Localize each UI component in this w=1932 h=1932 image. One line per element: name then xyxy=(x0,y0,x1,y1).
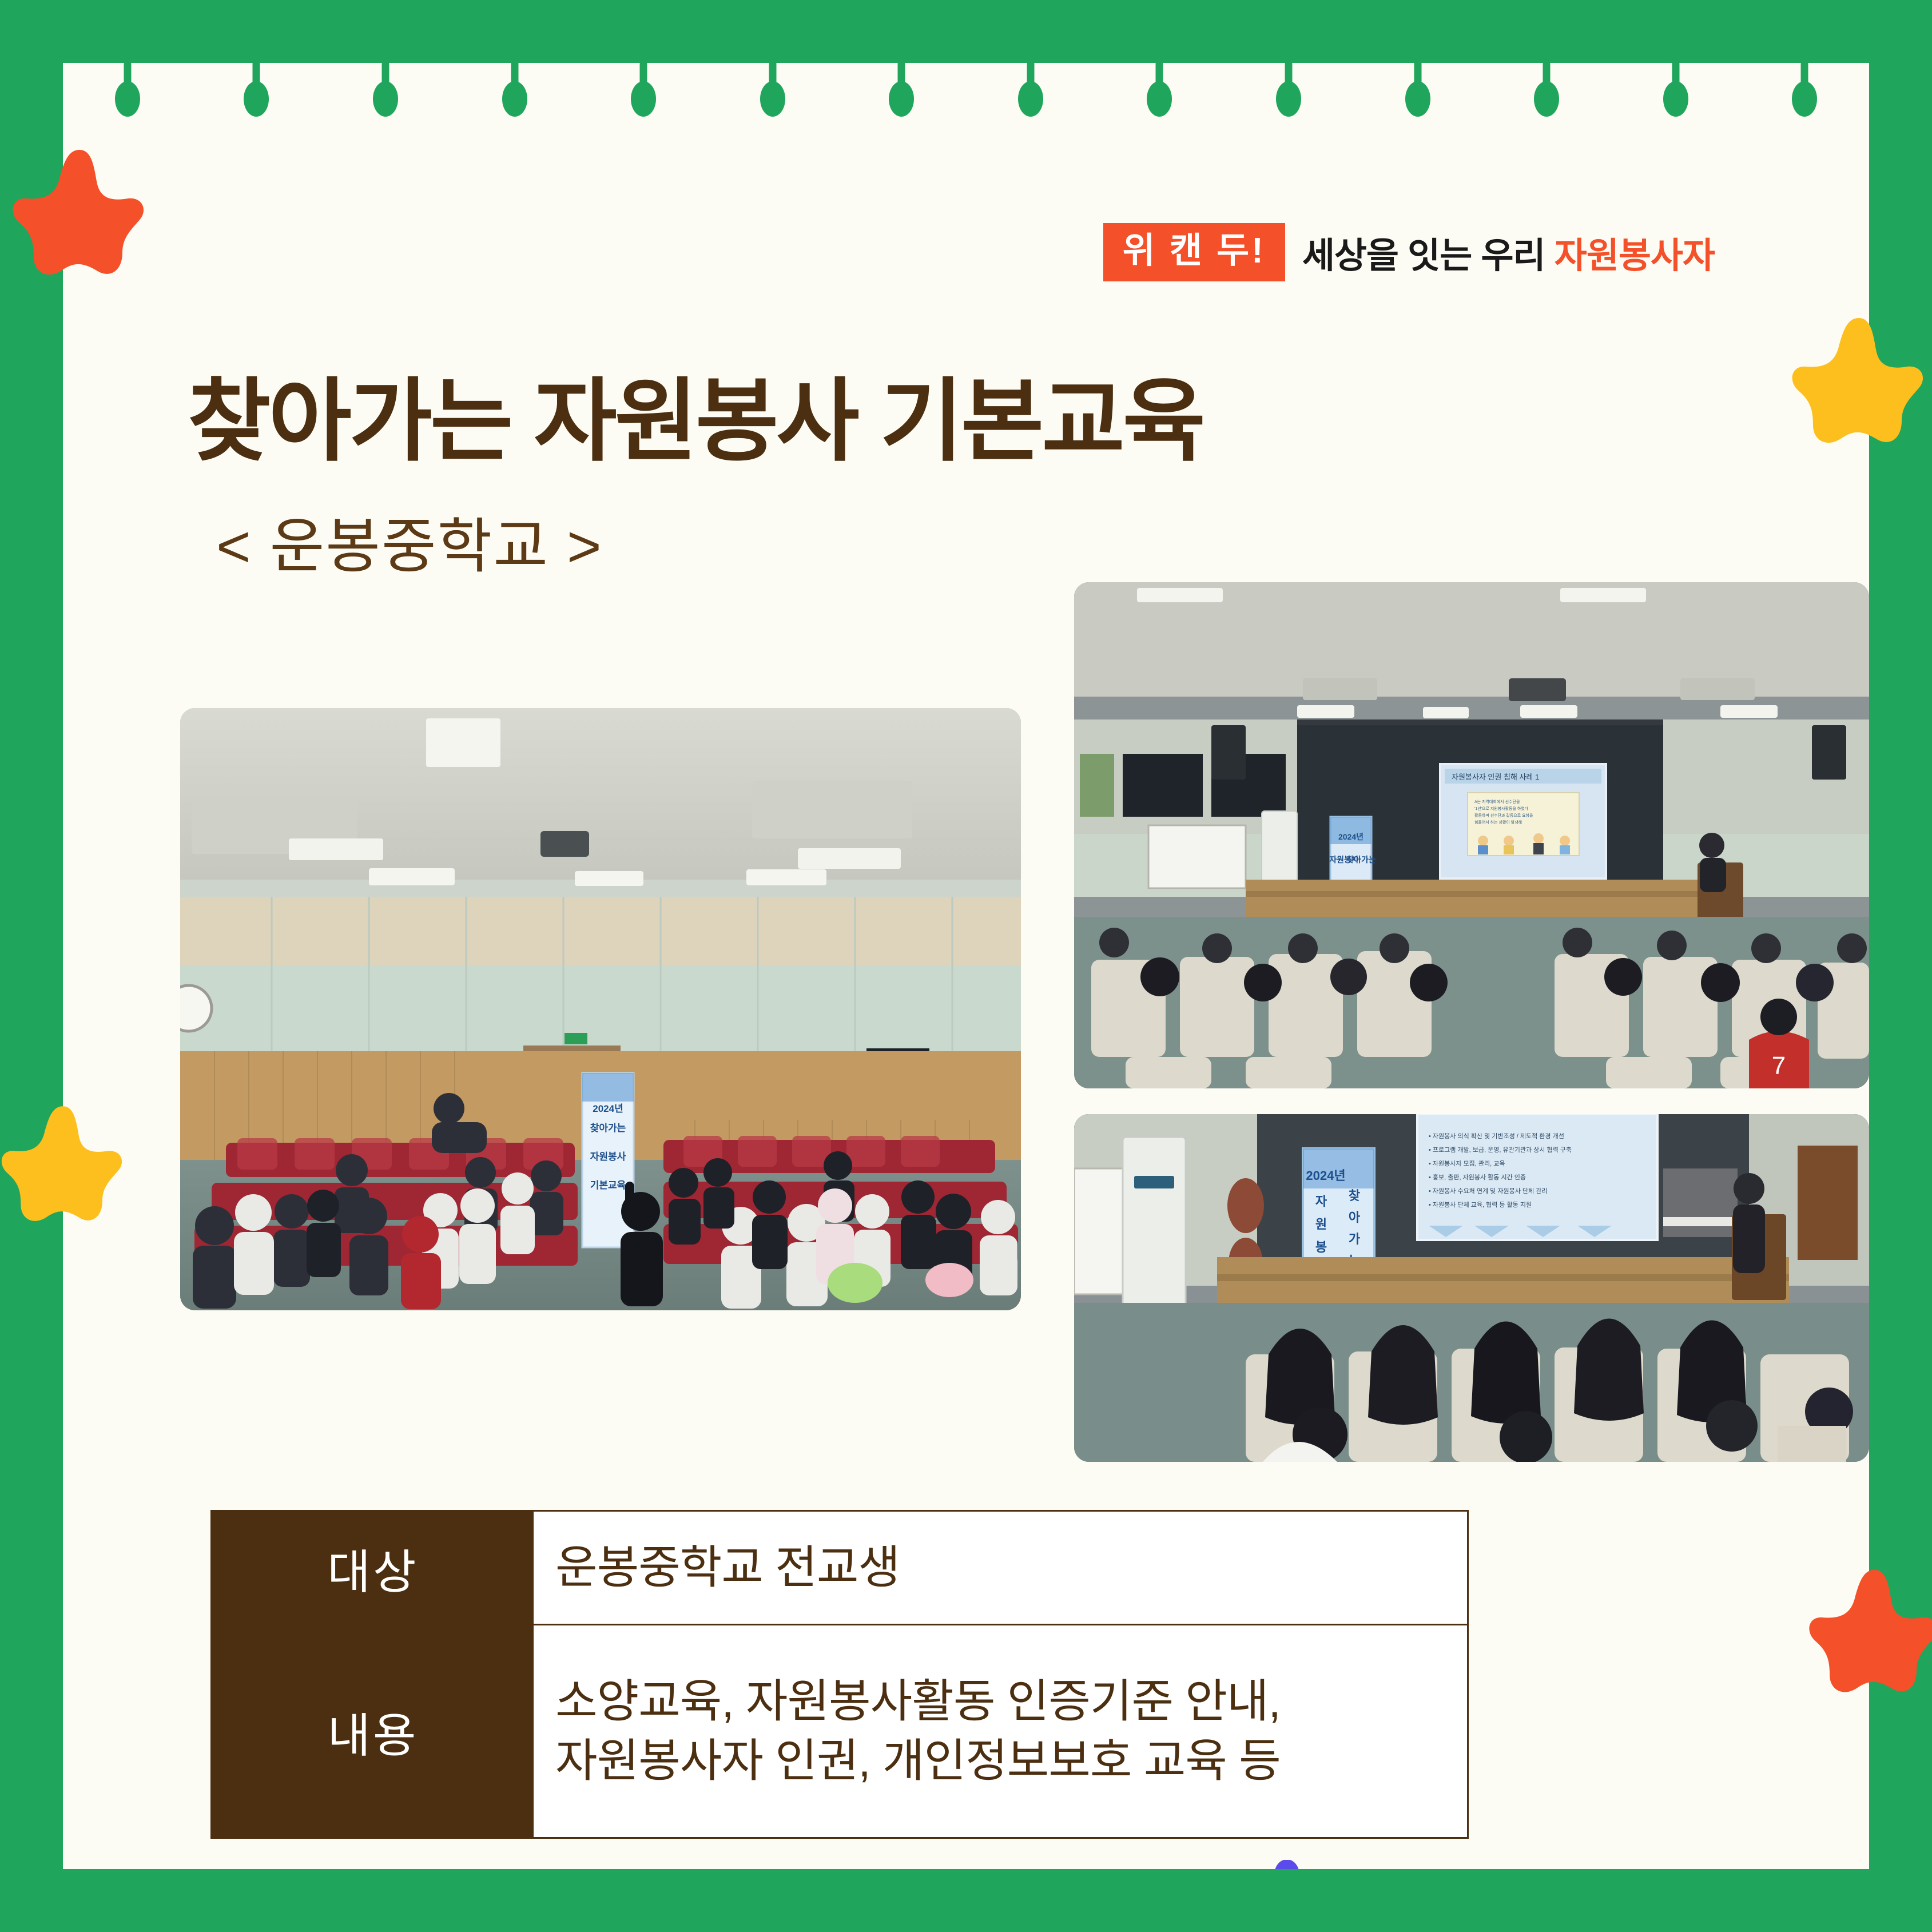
svg-text:'1년'으로 지원봉사활동을 하였다: '1년'으로 지원봉사활동을 하였다 xyxy=(1474,806,1529,811)
page-title: 찾아가는 자원봉사 기본교육 xyxy=(188,348,1203,479)
star-mid-left-icon xyxy=(0,1098,129,1235)
organization-name: 남원시자원봉사센터 xyxy=(1366,1863,1805,1870)
tagline-row: 위 캔 두! 세상을 잇는 우리 자원봉사자 xyxy=(1103,223,1715,281)
tagline-highlight: 자원봉사자 xyxy=(1555,236,1715,276)
we-can-do-badge: 위 캔 두! xyxy=(1103,223,1285,281)
photo-group-session: 2024년 찾아가는 자원봉사 기본교육 xyxy=(180,708,1021,1310)
svg-text:자: 자 xyxy=(1315,1194,1327,1209)
photo-audience-screen: 2024년 자 원 봉 사 찾 아 가 는 기본교 • 자원봉사 의식 확산 및… xyxy=(1074,1114,1869,1462)
info-label-target: 대상 xyxy=(212,1512,534,1624)
svg-text:• 자원봉사자 모집, 관리, 교육: • 자원봉사자 모집, 관리, 교육 xyxy=(1429,1160,1505,1167)
svg-text:• 자원봉사 의식 확산 및 기반조성 / 제도적 환경 개: • 자원봉사 의식 확산 및 기반조성 / 제도적 환경 개선 xyxy=(1429,1132,1564,1140)
svg-text:자원봉사: 자원봉사 xyxy=(590,1151,626,1162)
tagline-plain: 세상을 잇는 우리 xyxy=(1302,236,1545,276)
svg-text:• 자원봉사 수요처 연계 및 자원봉사 단체 관리: • 자원봉사 수요처 연계 및 자원봉사 단체 관리 xyxy=(1429,1187,1547,1195)
svg-text:• 프로그램 개발, 보급, 운영, 유관기관과 상시 협력: • 프로그램 개발, 보급, 운영, 유관기관과 상시 협력 구축 xyxy=(1429,1146,1572,1154)
info-value-line: 소양교육, 자원봉사활동 인증기준 안내, xyxy=(555,1672,1467,1731)
svg-text:힘들어서 하는 상황이 발생해: 힘들어서 하는 상황이 발생해 xyxy=(1474,820,1522,825)
photo-lecture-stage: 자원봉사자 인권 침해 사례 1 A는 지역대회에서 선수단을 '1년'으로 지… xyxy=(1074,582,1869,1088)
star-bottom-right-icon xyxy=(1804,1561,1932,1707)
info-table: 대상 운봉중학교 전교생 내용 소양교육, 자원봉사활동 인증기준 안내, 자원… xyxy=(210,1510,1469,1839)
svg-text:아: 아 xyxy=(1349,1210,1361,1225)
tagline-text: 세상을 잇는 우리 자원봉사자 xyxy=(1302,226,1715,278)
svg-text:원: 원 xyxy=(1315,1217,1327,1231)
info-value-content: 소양교육, 자원봉사활동 인증기준 안내, 자원봉사자 인권, 개인정보보호 교… xyxy=(534,1625,1467,1837)
info-label-content: 내용 xyxy=(212,1625,534,1837)
svg-text:가: 가 xyxy=(1349,1232,1360,1246)
svg-text:• 자원봉사 단체 교육, 협력 등 활동 지원: • 자원봉사 단체 교육, 협력 등 활동 지원 xyxy=(1429,1200,1532,1209)
svg-text:2024년: 2024년 xyxy=(1338,832,1363,841)
footer-logo: amwon 남원시자원봉사센터 xyxy=(1258,1860,1805,1869)
svg-text:찾: 찾 xyxy=(1349,1188,1360,1203)
card-frame: 2024년 찾아가는 자원봉사 기본교육 xyxy=(0,0,1932,1932)
table-row: 내용 소양교육, 자원봉사활동 인증기준 안내, 자원봉사자 인권, 개인정보보… xyxy=(212,1624,1467,1837)
svg-text:봉: 봉 xyxy=(1315,1240,1327,1254)
star-top-right-icon xyxy=(1787,312,1930,455)
svg-text:• 홍보, 출판, 자원봉사 활동 시간 인증: • 홍보, 출판, 자원봉사 활동 시간 인증 xyxy=(1429,1173,1526,1181)
table-row: 대상 운봉중학교 전교생 xyxy=(212,1512,1467,1624)
info-value-target: 운봉중학교 전교생 xyxy=(534,1512,1467,1624)
svg-text:자원봉사자 인권 침해 사례 1: 자원봉사자 인권 침해 사례 1 xyxy=(1452,773,1539,781)
svg-text:찾아가는: 찾아가는 xyxy=(1346,855,1376,864)
svg-text:2024년: 2024년 xyxy=(1306,1168,1345,1183)
svg-text:2024년: 2024년 xyxy=(593,1103,623,1114)
svg-text:활동하며 선수단과 갈등으로 요청을: 활동하며 선수단과 갈등으로 요청을 xyxy=(1474,813,1533,818)
svg-text:찾아가는: 찾아가는 xyxy=(590,1122,626,1134)
info-value-line: 자원봉사자 인권, 개인정보보호 교육 등 xyxy=(555,1731,1467,1791)
star-top-left-icon xyxy=(8,144,151,287)
card-inner-surface: 2024년 찾아가는 자원봉사 기본교육 xyxy=(63,63,1869,1869)
namwon-logo-icon: amwon xyxy=(1258,1860,1350,1869)
page-subtitle: < 운봉중학교 > xyxy=(216,498,603,584)
info-value-line: 운봉중학교 전교생 xyxy=(555,1538,1467,1597)
svg-text:A는 지역대회에서 선수단을: A는 지역대회에서 선수단을 xyxy=(1474,799,1520,804)
svg-text:7: 7 xyxy=(1772,1052,1786,1080)
svg-text:기본교육: 기본교육 xyxy=(590,1180,626,1191)
